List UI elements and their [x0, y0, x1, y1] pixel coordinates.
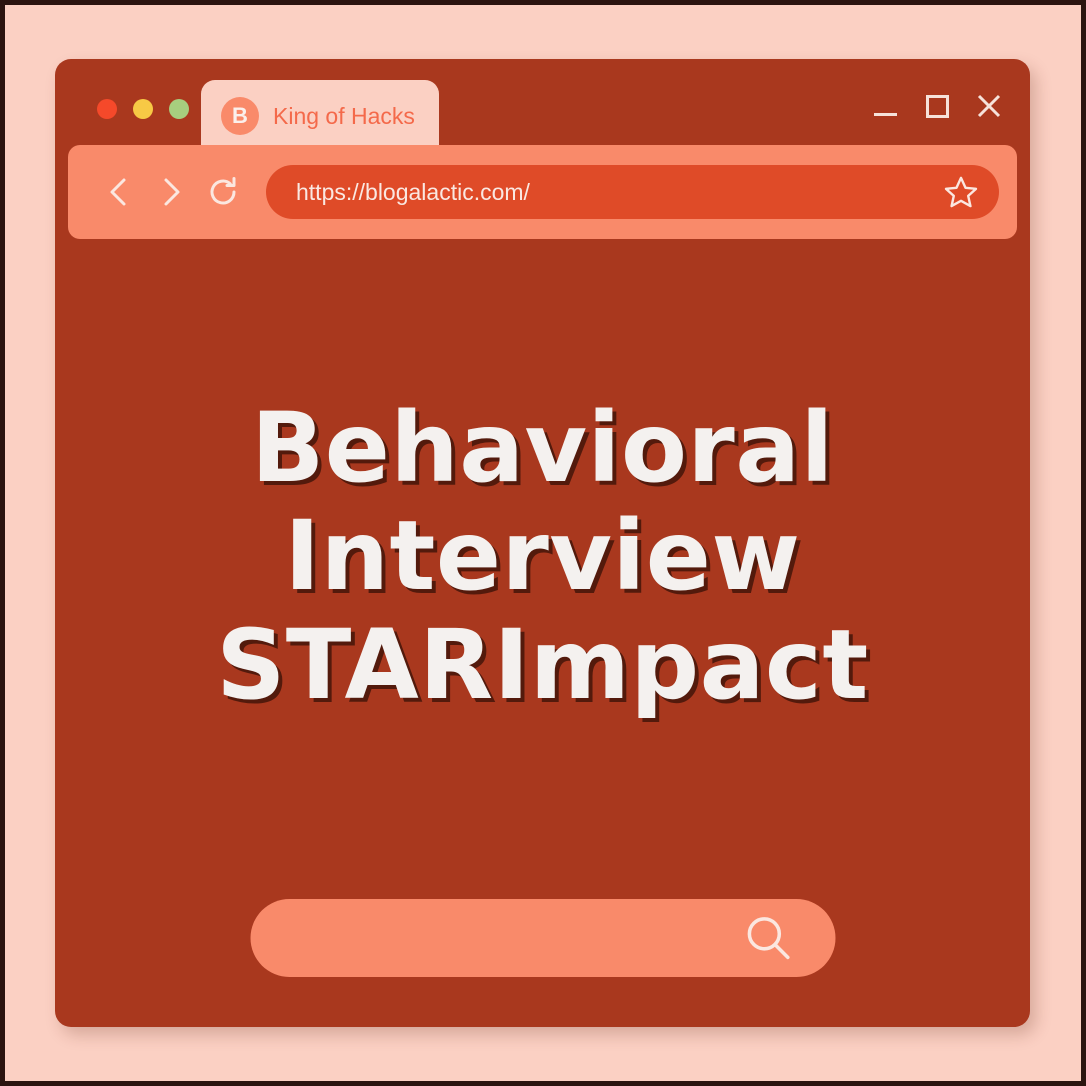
- page-title-line-1: Behavioral: [93, 394, 992, 502]
- browser-titlebar: B King of Hacks: [55, 59, 1030, 145]
- close-icon: [975, 92, 1003, 120]
- window-controls: [870, 91, 1004, 121]
- minimize-icon: [874, 113, 897, 116]
- back-button[interactable]: [98, 171, 140, 213]
- minimize-window-button[interactable]: [870, 91, 900, 121]
- maximize-icon: [926, 95, 949, 118]
- chevron-left-icon: [106, 177, 132, 207]
- page-content: Behavioral Interview STARImpact: [55, 239, 1030, 1027]
- chevron-right-icon: [158, 177, 184, 207]
- url-input[interactable]: https://blogalactic.com/: [296, 179, 943, 206]
- search-icon[interactable]: [741, 911, 795, 965]
- close-window-button[interactable]: [974, 91, 1004, 121]
- minimize-traffic-light[interactable]: [133, 99, 153, 119]
- tab-title: King of Hacks: [273, 103, 415, 130]
- reload-button[interactable]: [202, 171, 244, 213]
- browser-window: B King of Hacks: [55, 59, 1030, 1027]
- reload-icon: [206, 175, 240, 209]
- close-traffic-light[interactable]: [97, 99, 117, 119]
- favicon-icon: B: [221, 97, 259, 135]
- maximize-traffic-light[interactable]: [169, 99, 189, 119]
- traffic-light-controls: [97, 99, 189, 119]
- star-icon[interactable]: [943, 174, 979, 210]
- search-input[interactable]: [250, 899, 835, 977]
- poster-canvas: B King of Hacks: [5, 5, 1081, 1081]
- maximize-window-button[interactable]: [922, 91, 952, 121]
- browser-toolbar: https://blogalactic.com/: [68, 145, 1017, 239]
- page-title: Behavioral Interview STARImpact: [55, 394, 1030, 719]
- browser-tab[interactable]: B King of Hacks: [201, 80, 439, 152]
- page-title-line-3: STARImpact: [93, 611, 992, 719]
- page-title-line-2: Interview: [93, 502, 992, 610]
- address-bar[interactable]: https://blogalactic.com/: [266, 165, 999, 219]
- forward-button[interactable]: [150, 171, 192, 213]
